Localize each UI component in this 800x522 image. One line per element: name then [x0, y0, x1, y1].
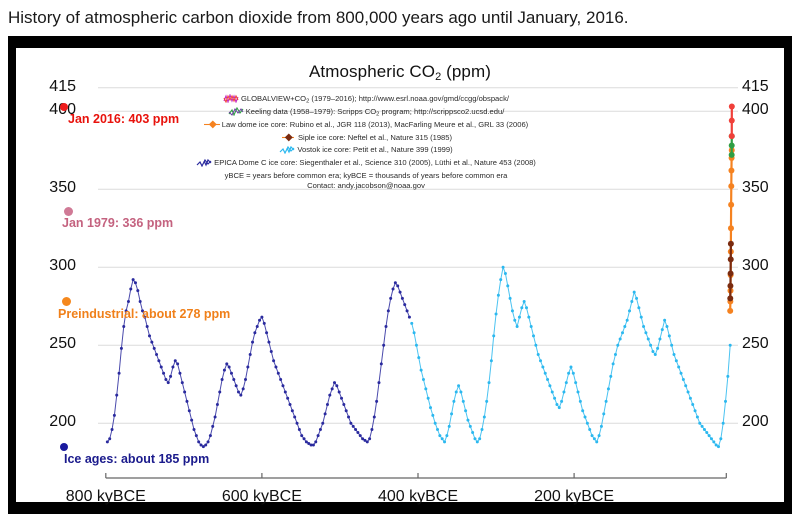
data-point	[584, 415, 587, 418]
data-point	[567, 372, 570, 375]
data-point	[300, 434, 303, 437]
data-point	[527, 316, 530, 319]
data-point	[579, 400, 582, 403]
chart-title-main: Atmospheric CO	[309, 62, 435, 81]
data-point	[581, 409, 584, 412]
data-point	[223, 369, 226, 372]
data-point	[727, 308, 733, 314]
data-point	[111, 428, 114, 431]
y-axis-tick-label-right: 350	[742, 179, 788, 197]
data-point	[146, 325, 149, 328]
data-point	[680, 372, 683, 375]
data-point	[209, 434, 212, 437]
data-point	[729, 118, 735, 124]
data-point	[651, 350, 654, 353]
data-point	[324, 412, 327, 415]
chart-legend: GLOBALVIEW+CO2 (1979–2016); http://www.e…	[166, 94, 566, 192]
data-point	[633, 291, 636, 294]
data-point	[178, 372, 181, 375]
data-point	[342, 403, 345, 406]
data-point	[598, 434, 601, 437]
y-axis-tick-label-left: 300	[30, 257, 76, 275]
data-point	[722, 422, 725, 425]
data-point	[565, 381, 568, 384]
data-point	[197, 440, 200, 443]
data-point	[665, 325, 668, 328]
data-point	[518, 316, 521, 319]
annotation-marker	[62, 297, 71, 306]
data-point	[265, 331, 268, 334]
legend-text: Vostok ice core: Petit et al., Nature 39…	[297, 145, 452, 154]
data-point	[728, 270, 734, 276]
data-point	[577, 391, 580, 394]
x-axis-tick-label: 800 kyBCE	[46, 488, 166, 506]
data-point	[162, 372, 165, 375]
data-point	[167, 381, 170, 384]
data-point	[436, 428, 439, 431]
data-point	[495, 313, 498, 316]
annotation-label: Jan 2016: 403 ppm	[68, 112, 179, 126]
data-point	[251, 341, 254, 344]
data-point	[195, 434, 198, 437]
data-point	[289, 403, 292, 406]
data-point	[623, 325, 626, 328]
data-point	[232, 378, 235, 381]
data-point	[497, 294, 500, 297]
data-point	[689, 397, 692, 400]
data-point	[263, 322, 266, 325]
data-point	[728, 241, 734, 247]
y-axis-tick-label-right: 250	[742, 335, 788, 353]
data-point	[253, 331, 256, 334]
data-point	[696, 415, 699, 418]
data-point	[331, 387, 334, 390]
data-point	[193, 428, 196, 431]
legend-marker-icon	[280, 133, 296, 146]
annotation-label: Preindustrial: about 278 ppm	[58, 307, 230, 321]
data-point	[728, 225, 734, 231]
data-point	[673, 353, 676, 356]
legend-marker-icon	[279, 145, 295, 158]
chart-title-units: (ppm)	[441, 62, 491, 81]
data-point	[705, 431, 708, 434]
data-point	[450, 412, 453, 415]
data-point	[546, 378, 549, 381]
legend-note-contact: Contact: andy.jacobson@noaa.gov	[166, 181, 566, 192]
data-point	[476, 440, 479, 443]
figure-page: History of atmospheric carbon dioxide fr…	[0, 0, 800, 522]
data-point	[729, 133, 735, 139]
data-point	[413, 331, 416, 334]
data-point	[481, 428, 484, 431]
data-point	[150, 341, 153, 344]
data-point	[298, 428, 301, 431]
legend-row: EPICA Dome C ice core: Siegenthaler et a…	[166, 158, 566, 171]
data-point	[647, 337, 650, 340]
data-point	[675, 359, 678, 362]
data-point	[640, 316, 643, 319]
data-point	[593, 437, 596, 440]
data-point	[509, 297, 512, 300]
data-point	[621, 331, 624, 334]
data-point	[174, 359, 177, 362]
data-point	[471, 431, 474, 434]
data-point	[682, 378, 685, 381]
data-point	[106, 440, 109, 443]
data-point	[558, 406, 561, 409]
data-point	[139, 300, 142, 303]
data-point	[525, 306, 528, 309]
data-point	[188, 409, 191, 412]
annotation-marker	[60, 443, 68, 451]
data-point	[513, 319, 516, 322]
data-point	[260, 316, 263, 319]
figure-frame: Atmospheric CO2 (ppm) 415415400400350350…	[8, 36, 792, 514]
legend-marker-icon	[204, 120, 220, 133]
y-axis-tick-label-left: 350	[30, 179, 76, 197]
data-point	[115, 394, 118, 397]
data-point	[591, 434, 594, 437]
data-point	[190, 419, 193, 422]
data-point	[544, 372, 547, 375]
data-point	[724, 400, 727, 403]
data-point	[663, 319, 666, 322]
data-point	[394, 281, 397, 284]
data-point	[520, 306, 523, 309]
data-point	[129, 288, 132, 291]
data-point	[455, 391, 458, 394]
data-point	[729, 152, 735, 158]
data-point	[488, 381, 491, 384]
data-point	[431, 414, 434, 417]
data-point	[148, 334, 151, 337]
data-point	[403, 303, 406, 306]
data-point	[504, 272, 507, 275]
data-point	[335, 384, 338, 387]
data-point	[272, 359, 275, 362]
data-point	[424, 387, 427, 390]
data-point	[726, 375, 729, 378]
data-point	[118, 372, 121, 375]
data-point	[127, 300, 130, 303]
data-point	[399, 291, 402, 294]
data-point	[256, 325, 259, 328]
data-point	[303, 437, 306, 440]
data-point	[614, 353, 617, 356]
data-point	[588, 428, 591, 431]
co2-history-chart: Atmospheric CO2 (ppm) 415415400400350350…	[16, 48, 784, 502]
data-point	[237, 391, 240, 394]
data-point	[211, 425, 214, 428]
data-point	[293, 415, 296, 418]
data-point	[235, 384, 238, 387]
data-point	[258, 319, 261, 322]
data-point	[464, 409, 467, 412]
data-point	[443, 440, 446, 443]
data-point	[218, 391, 221, 394]
data-point	[717, 445, 720, 448]
data-point	[609, 375, 612, 378]
data-point	[296, 422, 299, 425]
annotation-marker	[64, 207, 73, 216]
data-point	[457, 384, 460, 387]
data-point	[408, 316, 411, 319]
data-point	[727, 283, 733, 289]
data-point	[277, 372, 280, 375]
data-point	[221, 378, 224, 381]
data-point	[438, 434, 441, 437]
data-point	[473, 437, 476, 440]
data-point	[274, 366, 277, 369]
data-point	[551, 391, 554, 394]
data-point	[708, 434, 711, 437]
data-point	[136, 289, 139, 292]
series-line	[412, 267, 730, 446]
data-point	[216, 403, 219, 406]
data-point	[684, 384, 687, 387]
data-point	[490, 359, 493, 362]
data-point	[649, 344, 652, 347]
data-point	[728, 202, 734, 208]
y-axis-tick-label-left: 200	[30, 413, 76, 431]
figure-canvas: Atmospheric CO2 (ppm) 415415400400350350…	[16, 48, 784, 502]
data-point	[448, 425, 451, 428]
legend-marker-icon	[223, 94, 239, 107]
data-point	[373, 415, 376, 418]
data-point	[176, 362, 179, 365]
data-point	[698, 422, 701, 425]
data-point	[499, 278, 502, 281]
data-point	[728, 256, 734, 262]
data-point	[382, 344, 385, 347]
data-point	[654, 353, 657, 356]
data-point	[185, 400, 188, 403]
x-axis-tick-label: 600 kyBCE	[202, 488, 322, 506]
data-point	[354, 428, 357, 431]
data-point	[586, 422, 589, 425]
data-point	[171, 366, 174, 369]
data-point	[511, 309, 514, 312]
data-point	[600, 425, 603, 428]
data-point	[523, 300, 526, 303]
data-point	[314, 440, 317, 443]
data-point	[420, 369, 423, 372]
data-point	[719, 437, 722, 440]
data-point	[434, 422, 437, 425]
data-point	[560, 400, 563, 403]
legend-text: Law dome ice core: Rubino et al., JGR 11…	[222, 120, 528, 129]
data-point	[352, 425, 355, 428]
data-point	[270, 350, 273, 353]
data-point	[338, 391, 341, 394]
data-point	[483, 415, 486, 418]
data-point	[727, 295, 733, 301]
data-point	[377, 381, 380, 384]
data-point	[225, 362, 228, 365]
data-point	[183, 391, 186, 394]
annotation-marker	[60, 103, 68, 111]
data-point	[485, 400, 488, 403]
data-point	[612, 362, 615, 365]
data-point	[478, 437, 481, 440]
legend-text-tail: program; http://scrippsco2.ucsd.edu/	[379, 107, 504, 116]
data-point	[380, 362, 383, 365]
y-axis-tick-label-right: 415	[742, 78, 788, 96]
data-point	[204, 444, 207, 447]
data-point	[312, 444, 315, 447]
data-point	[516, 325, 519, 328]
data-point	[670, 344, 673, 347]
data-point	[214, 415, 217, 418]
data-point	[415, 344, 418, 347]
data-point	[668, 334, 671, 337]
data-point	[340, 397, 343, 400]
data-point	[677, 366, 680, 369]
data-point	[628, 309, 631, 312]
data-point	[244, 378, 247, 381]
data-point	[541, 366, 544, 369]
data-point	[359, 434, 362, 437]
data-point	[605, 400, 608, 403]
data-point	[356, 431, 359, 434]
data-point	[694, 409, 697, 412]
data-point	[349, 422, 352, 425]
data-point	[637, 306, 640, 309]
legend-row: Siple ice core: Neftel et al., Nature 31…	[166, 133, 566, 146]
data-point	[230, 372, 233, 375]
data-point	[506, 284, 509, 287]
data-point	[317, 434, 320, 437]
data-point	[120, 347, 123, 350]
data-point	[169, 375, 172, 378]
data-point	[427, 397, 430, 400]
data-point	[687, 391, 690, 394]
data-point	[462, 400, 465, 403]
data-point	[619, 337, 622, 340]
data-point	[326, 403, 329, 406]
page-caption: History of atmospheric carbon dioxide fr…	[8, 6, 792, 30]
legend-text-tail: (1979–2016); http://www.esrl.noaa.gov/gm…	[309, 94, 509, 103]
annotation-label: Jan 1979: 336 ppm	[62, 216, 173, 230]
legend-row: GLOBALVIEW+CO2 (1979–2016); http://www.e…	[166, 94, 566, 107]
data-point	[626, 319, 629, 322]
data-point	[242, 387, 245, 390]
data-point	[728, 167, 734, 173]
data-point	[441, 437, 444, 440]
x-axis-tick-label: 200 kyBCE	[514, 488, 634, 506]
data-point	[387, 309, 390, 312]
legend-marker-icon	[228, 107, 244, 120]
data-point	[691, 403, 694, 406]
data-point	[539, 359, 542, 362]
data-point	[452, 400, 455, 403]
legend-text: GLOBALVIEW+CO	[241, 94, 306, 103]
data-point	[595, 440, 598, 443]
data-point	[228, 366, 231, 369]
data-point	[492, 334, 495, 337]
data-point	[286, 397, 289, 400]
data-point	[459, 391, 462, 394]
data-point	[658, 337, 661, 340]
data-point	[281, 384, 284, 387]
data-point	[532, 334, 535, 337]
data-point	[385, 325, 388, 328]
data-point	[249, 353, 252, 356]
data-point	[616, 344, 619, 347]
data-point	[181, 381, 184, 384]
data-point	[572, 372, 575, 375]
data-point	[368, 437, 371, 440]
data-point	[644, 331, 647, 334]
data-point	[410, 322, 413, 325]
y-axis-tick-label-left: 250	[30, 335, 76, 353]
data-point	[712, 440, 715, 443]
data-point	[701, 425, 704, 428]
legend-row: Law dome ice core: Rubino et al., JGR 11…	[166, 120, 566, 133]
data-point	[153, 347, 156, 350]
data-point	[548, 384, 551, 387]
data-point	[729, 143, 735, 149]
data-point	[291, 409, 294, 412]
data-point	[406, 309, 409, 312]
data-point	[466, 419, 469, 422]
data-point	[534, 344, 537, 347]
data-point	[160, 366, 163, 369]
y-axis-tick-label-right: 200	[742, 413, 788, 431]
data-point	[375, 400, 378, 403]
legend-text: EPICA Dome C ice core: Siegenthaler et a…	[214, 158, 536, 167]
series-line	[107, 280, 409, 447]
data-point	[370, 428, 373, 431]
data-point	[729, 344, 732, 347]
data-point	[328, 394, 331, 397]
y-axis-tick-label-left: 415	[30, 78, 76, 96]
x-axis-tick-label: 400 kyBCE	[358, 488, 478, 506]
data-point	[630, 300, 633, 303]
data-point	[602, 412, 605, 415]
data-point	[279, 378, 282, 381]
data-point	[469, 425, 472, 428]
data-point	[710, 437, 713, 440]
data-point	[157, 359, 160, 362]
data-point	[321, 422, 324, 425]
data-point	[284, 391, 287, 394]
data-point	[574, 381, 577, 384]
data-point	[656, 347, 659, 350]
data-point	[345, 409, 348, 412]
data-point	[417, 356, 420, 359]
data-point	[661, 328, 664, 331]
data-point	[562, 391, 565, 394]
data-point	[642, 325, 645, 328]
legend-row: Vostok ice core: Petit et al., Nature 39…	[166, 145, 566, 158]
data-point	[703, 428, 706, 431]
data-point	[134, 281, 137, 284]
legend-note-units: yBCE = years before common era; kyBCE = …	[166, 171, 566, 182]
data-point	[422, 378, 425, 381]
data-point	[445, 434, 448, 437]
data-point	[396, 284, 399, 287]
data-point	[155, 353, 158, 356]
data-point	[537, 353, 540, 356]
data-point	[319, 428, 322, 431]
data-point	[347, 415, 350, 418]
y-axis-tick-label-right: 300	[742, 257, 788, 275]
data-point	[555, 403, 558, 406]
annotation-label: Ice ages: about 185 ppm	[64, 452, 209, 466]
legend-row: Keeling data (1958–1979): Scripps CO2 pr…	[166, 107, 566, 120]
legend-text: Siple ice core: Neftel et al., Nature 31…	[298, 133, 452, 142]
